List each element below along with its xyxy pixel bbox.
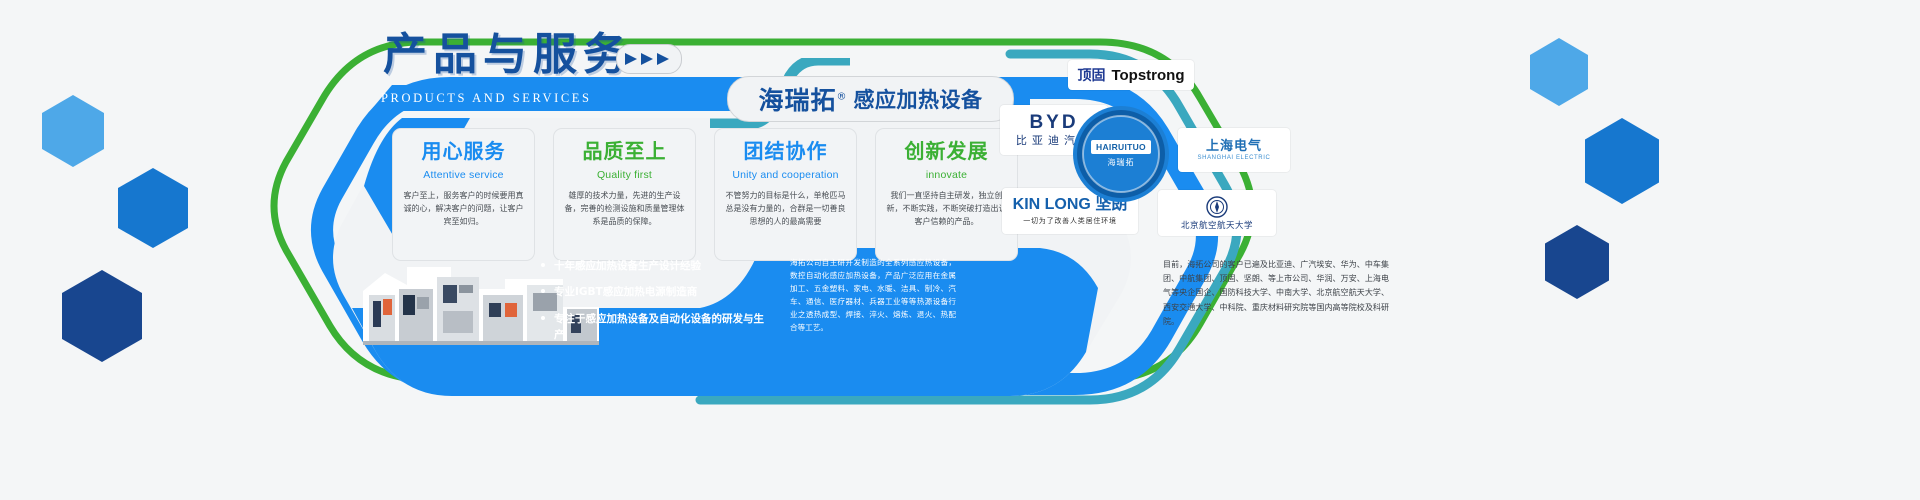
page-subtitle-en: PRODUCTS AND SERVICES [381,91,592,106]
value-card[interactable]: 品质至上 Quality first 雄厚的技术力量，先进的生产设备，完善的检测… [553,128,696,261]
value-card[interactable]: 用心服务 Attentive service 客户至上，服务客户的时候要用真诚的… [392,128,535,261]
card-body: 我们一直坚持自主研发，独立创新，不断实践，不断突破打造出让客户信赖的产品。 [885,190,1008,229]
topstrong-logo-cn: 顶固 [1077,68,1105,82]
triple-chevron-right-icon [616,44,682,74]
brand-pill: 海瑞拓® 感应加热设备 [727,76,1014,122]
card-title-en: Unity and cooperation [724,169,847,181]
card-body: 雄厚的技术力量，先进的生产设备，完善的检测设施和质量管理体系是品质的保障。 [563,190,686,229]
registered-mark: ® [837,92,848,103]
topstrong-logo-en: Topstrong [1111,68,1184,83]
brand-name-cn: 海瑞拓® [758,81,847,117]
card-title-cn: 创新发展 [885,141,1008,162]
description-left: 海拓公司自主研开发制造的全系列感应热设备，数控自动化感应加热设备，产品广泛应用在… [790,256,956,334]
value-card[interactable]: 团结协作 Unity and cooperation 不管努力的目标是什么，单枪… [714,128,857,261]
kinlong-logo-sub: 一切为了改善人类居住环境 [1023,218,1117,225]
card-title-cn: 品质至上 [563,141,686,162]
card-title-en: Quality first [563,169,686,181]
buaa-crest-icon [1206,196,1228,218]
bullet-item: 十年感应加热设备生产设计经验 [541,258,771,274]
topstrong-logo: 顶固 Topstrong [1068,60,1194,90]
buaa-logo: 北京航空航天大学 [1158,190,1276,236]
shanghai-electric-logo-cn: 上海电气 [1206,139,1262,152]
bullet-item: 专注于感应加热设备及自动化设备的研发与生产 [541,311,771,344]
hairuituo-badge: HAIRUITUO 海瑞拓 [1077,110,1165,198]
shanghai-electric-logo: 上海电气 SHANGHAI ELECTRIC [1178,128,1290,172]
card-title-cn: 团结协作 [724,141,847,162]
brand-tagline-cn: 感应加热设备 [854,84,983,114]
card-body: 不管努力的目标是什么，单枪匹马总是没有力量的，合群是一切善良思想的人的最高需要 [724,190,847,229]
card-title-cn: 用心服务 [402,141,525,162]
buaa-logo-cn: 北京航空航天大学 [1181,221,1253,230]
poster-canvas: 产品与服务 PRODUCTS AND SERVICES 海瑞拓® 感应加热设备 … [0,0,1920,500]
page-title-cn: 产品与服务 [383,33,633,77]
badge-ring [1082,115,1160,193]
page-title-block: 产品与服务 [383,33,633,77]
feature-bullets: 十年感应加热设备生产设计经验 专业IGBT感应加热电源制造商 专注于感应加热设备… [541,258,771,353]
kinlong-logo-text: KIN LONG 坚朗 [1013,197,1128,213]
value-card[interactable]: 创新发展 innovate 我们一直坚持自主研发，独立创新，不断实践，不断突破打… [875,128,1018,261]
byd-logo-en: BYD [1029,113,1078,132]
card-body: 客户至上，服务客户的时候要用真诚的心，解决客户的问题，让客户宾至如归。 [402,190,525,229]
value-cards: 用心服务 Attentive service 客户至上，服务客户的时候要用真诚的… [392,128,1018,261]
card-title-en: Attentive service [402,169,525,181]
description-right: 目前，海拓公司的客户已遍及比亚迪、广汽埃安、华为、中车集团、中航集团、顶固、坚朗… [1163,258,1389,329]
card-title-en: innovate [885,169,1008,181]
shanghai-electric-logo-en: SHANGHAI ELECTRIC [1198,155,1271,161]
bullet-item: 专业IGBT感应加热电源制造商 [541,284,771,300]
